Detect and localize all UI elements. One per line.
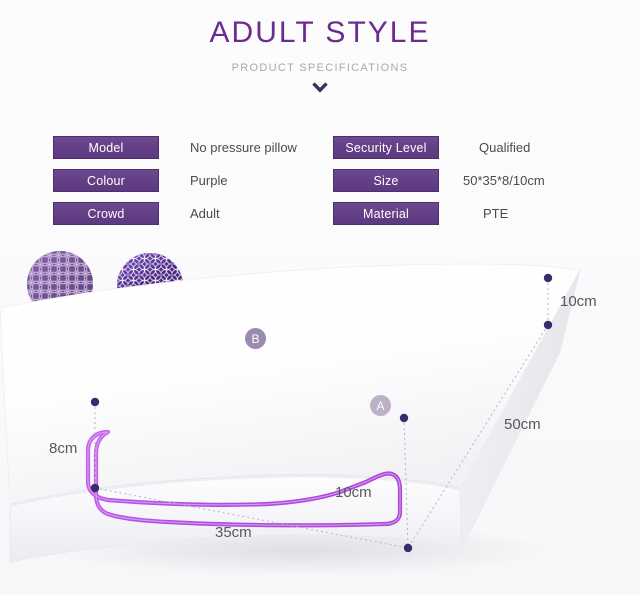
marker-badge-a: A	[370, 395, 391, 416]
pillow-illustration	[0, 230, 640, 595]
spec-row: Security Level Qualified	[333, 131, 623, 164]
spec-row: Material PTE	[333, 197, 623, 230]
spec-label-crowd: Crowd	[53, 202, 159, 225]
spec-row: Size 50*35*8/10cm	[333, 164, 623, 197]
dim-dot	[544, 274, 552, 282]
spec-value-crowd: Adult	[190, 206, 220, 221]
product-spec-page: ADULT STYLE PRODUCT SPECIFICATIONS Model…	[0, 0, 640, 595]
spec-value-security-level: Qualified	[479, 140, 530, 155]
spec-value-model: No pressure pillow	[190, 140, 297, 155]
spec-value-size: 50*35*8/10cm	[463, 173, 545, 188]
specifications-table: Model No pressure pillow Colour Purple C…	[0, 131, 640, 236]
header: ADULT STYLE PRODUCT SPECIFICATIONS	[0, 0, 640, 97]
spec-row: Crowd Adult	[53, 197, 323, 230]
spec-row: Model No pressure pillow	[53, 131, 323, 164]
dim-label-width: 35cm	[215, 524, 252, 541]
spec-column-left: Model No pressure pillow Colour Purple C…	[53, 131, 323, 230]
spec-label-size: Size	[333, 169, 439, 192]
dim-dot	[404, 544, 412, 552]
spec-column-right: Security Level Qualified Size 50*35*8/10…	[333, 131, 623, 230]
spec-label-security-level: Security Level	[333, 136, 439, 159]
dim-dot	[544, 321, 552, 329]
spec-label-model: Model	[53, 136, 159, 159]
dim-label-length: 50cm	[504, 416, 541, 433]
marker-badge-b: B	[245, 328, 266, 349]
spec-value-material: PTE	[483, 206, 508, 221]
spec-row: Colour Purple	[53, 164, 323, 197]
chevron-wrap	[0, 81, 640, 97]
dim-label-height-lobe: 10cm	[335, 484, 372, 501]
page-title: ADULT STYLE	[0, 16, 640, 50]
chevron-down-icon	[311, 81, 329, 98]
page-subtitle: PRODUCT SPECIFICATIONS	[0, 62, 640, 74]
dim-label-height-back: 10cm	[560, 293, 597, 310]
spec-label-material: Material	[333, 202, 439, 225]
dim-dot	[91, 398, 99, 406]
dim-dot	[400, 414, 408, 422]
spec-label-colour: Colour	[53, 169, 159, 192]
spec-value-colour: Purple	[190, 173, 228, 188]
dim-dot	[91, 484, 99, 492]
dim-label-height-front: 8cm	[49, 440, 77, 457]
